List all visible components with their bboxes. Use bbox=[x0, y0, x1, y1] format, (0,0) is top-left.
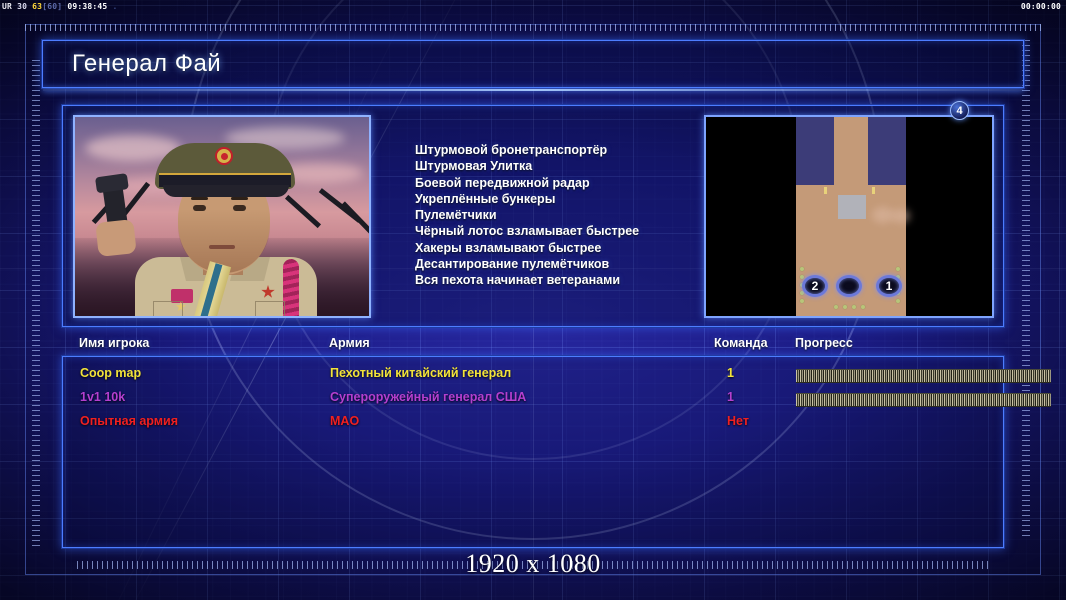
ability-item: Штурмовая Улитка bbox=[415, 158, 745, 174]
minimap-tree-icon bbox=[800, 275, 804, 279]
column-header-army: Армия bbox=[329, 336, 370, 350]
status-number-1: 30 bbox=[17, 2, 27, 11]
player-team: 1 bbox=[727, 366, 734, 380]
ability-item: Вся пехота начинает ветеранами bbox=[415, 272, 745, 288]
general-info-panel: Штурмовой бронетранспортёр Штурмовая Ули… bbox=[62, 105, 1004, 327]
minimap-terrain-detail bbox=[892, 209, 910, 223]
minimap-tree-icon bbox=[843, 305, 847, 309]
status-bracket: [60] bbox=[42, 2, 62, 11]
ruler-left bbox=[32, 60, 40, 550]
ability-item: Чёрный лотос взламывает быстрее bbox=[415, 223, 745, 239]
minimap-spawn-point[interactable]: 2 bbox=[802, 275, 828, 297]
column-header-name: Имя игрока bbox=[79, 336, 149, 350]
minimap-tree-icon bbox=[852, 305, 856, 309]
top-status-timer: 00:00:00 bbox=[1021, 0, 1061, 14]
resolution-overlay: 1920 x 1080 bbox=[0, 549, 1066, 579]
cap-emblem-icon bbox=[215, 147, 233, 165]
ruler-right bbox=[1022, 40, 1030, 540]
minimap-preview[interactable]: 1 2 bbox=[704, 115, 994, 318]
player-team: 1 bbox=[727, 390, 734, 404]
app-root: UR 30 63[60] 09:38:45 . 00:00:00 Генерал… bbox=[0, 0, 1066, 600]
minimap-tree-icon bbox=[896, 267, 900, 271]
player-progress-bar bbox=[796, 393, 1051, 407]
ability-item: Штурмовой бронетранспортёр bbox=[415, 142, 745, 158]
top-status-bar: UR 30 63[60] 09:38:45 . 00:00:00 bbox=[0, 0, 1066, 14]
portrait-eye-right bbox=[233, 205, 246, 211]
table-row[interactable]: Coop map Пехотный китайский генерал 1 bbox=[63, 366, 1005, 390]
player-army: Пехотный китайский генерал bbox=[330, 366, 511, 380]
ability-item: Пулемётчики bbox=[415, 207, 745, 223]
progress-fill bbox=[796, 370, 1051, 382]
general-portrait bbox=[73, 115, 371, 318]
ability-item: Хакеры взламывают быстрее bbox=[415, 240, 745, 256]
minimap-tree-icon bbox=[834, 305, 838, 309]
progress-fill bbox=[796, 394, 1051, 406]
player-army: MAO bbox=[330, 414, 359, 428]
top-status-left: UR 30 63[60] 09:38:45 . bbox=[2, 0, 118, 14]
player-name: 1v1 10k bbox=[80, 390, 125, 404]
portrait-hand bbox=[95, 219, 136, 257]
player-team: Нет bbox=[727, 414, 749, 428]
minimap-structure bbox=[838, 195, 866, 219]
portrait-shoulder-cord bbox=[283, 259, 299, 318]
minimap-flag-icon bbox=[872, 187, 875, 194]
portrait-eyebrow-right bbox=[231, 197, 248, 200]
minimap-tree-icon bbox=[861, 305, 865, 309]
minimap-water-left bbox=[796, 117, 834, 185]
player-progress-bar bbox=[796, 369, 1051, 383]
general-abilities-list: Штурмовой бронетранспортёр Штурмовая Ули… bbox=[415, 142, 745, 289]
player-table-header: Имя игрока Армия Команда Прогресс bbox=[62, 336, 1004, 356]
ability-item: Боевой передвижной радар bbox=[415, 175, 745, 191]
cap-brim bbox=[163, 185, 289, 197]
player-name: Опытная армия bbox=[80, 414, 178, 428]
page-title: Генерал Фай bbox=[72, 50, 221, 78]
player-army: Супероружейный генерал США bbox=[330, 390, 526, 404]
portrait-pocket-left bbox=[153, 301, 183, 318]
table-row[interactable]: 1v1 10k Супероружейный генерал США 1 bbox=[63, 390, 1005, 414]
minimap-spawn-point[interactable]: 1 bbox=[876, 275, 902, 297]
player-count-badge: 4 bbox=[950, 101, 969, 120]
status-dot: . bbox=[112, 2, 117, 11]
column-header-team: Команда bbox=[714, 336, 768, 350]
player-list-panel: Coop map Пехотный китайский генерал 1 1v… bbox=[62, 356, 1004, 548]
minimap-flag-icon bbox=[824, 187, 827, 194]
status-number-2: 63 bbox=[32, 2, 42, 11]
title-panel: Генерал Фай bbox=[42, 40, 1024, 88]
minimap-spawn-point[interactable] bbox=[836, 275, 862, 297]
table-row[interactable]: Опытная армия MAO Нет bbox=[63, 414, 1005, 438]
minimap-tree-icon bbox=[896, 299, 900, 303]
minimap-tree-icon bbox=[800, 299, 804, 303]
ruler-top bbox=[25, 24, 1041, 31]
player-name: Coop map bbox=[80, 366, 141, 380]
status-prefix: UR bbox=[2, 2, 12, 11]
minimap-water-right bbox=[868, 117, 906, 185]
minimap-terrain-detail bbox=[872, 207, 894, 223]
title-underline bbox=[43, 89, 1023, 91]
status-clock: 09:38:45 bbox=[67, 2, 107, 11]
ability-item: Десантирование пулемётчиков bbox=[415, 256, 745, 272]
portrait-pocket-right bbox=[255, 301, 285, 318]
portrait-eye-left bbox=[193, 205, 206, 211]
ability-item: Укреплённые бункеры bbox=[415, 191, 745, 207]
column-header-progress: Прогресс bbox=[795, 336, 853, 350]
portrait-mouth bbox=[209, 245, 235, 249]
minimap-tree-icon bbox=[800, 267, 804, 271]
portrait-eyebrow-left bbox=[191, 197, 208, 200]
